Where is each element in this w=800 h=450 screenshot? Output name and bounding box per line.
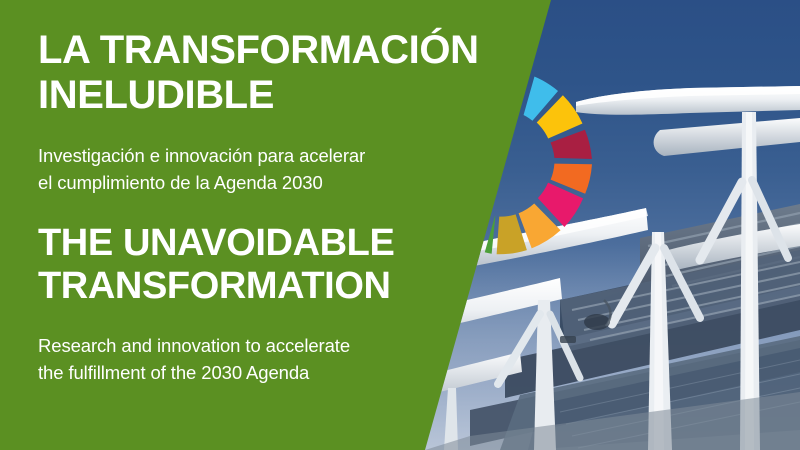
title-spanish-line2: INELUDIBLE xyxy=(38,73,508,118)
subtitle-spanish-line2: el cumplimiento de la Agenda 2030 xyxy=(38,170,438,197)
subtitle-english: Research and innovation to accelerate th… xyxy=(38,333,438,387)
title-english: THE UNAVOIDABLE TRANSFORMATION xyxy=(38,222,468,309)
title-english-line2: TRANSFORMATION xyxy=(38,265,468,308)
canopy-beam-upper-right xyxy=(576,86,800,115)
title-english-line1: THE UNAVOIDABLE xyxy=(38,222,468,265)
subtitle-english-line1: Research and innovation to accelerate xyxy=(38,333,438,360)
subtitle-spanish-line1: Investigación e innovación para acelerar xyxy=(38,143,438,170)
subtitle-spanish: Investigación e innovación para acelerar… xyxy=(38,143,438,197)
canopy-beam-central xyxy=(470,208,648,266)
title-spanish: LA TRANSFORMACIÓN INELUDIBLE xyxy=(38,28,508,118)
canopy-beam-diagonal-1 xyxy=(654,118,800,156)
title-spanish-line1: LA TRANSFORMACIÓN xyxy=(38,28,508,73)
promotional-banner: LA TRANSFORMACIÓN INELUDIBLE Investigaci… xyxy=(0,0,800,450)
subtitle-english-line2: the fulfillment of the 2030 Agenda xyxy=(38,360,438,387)
